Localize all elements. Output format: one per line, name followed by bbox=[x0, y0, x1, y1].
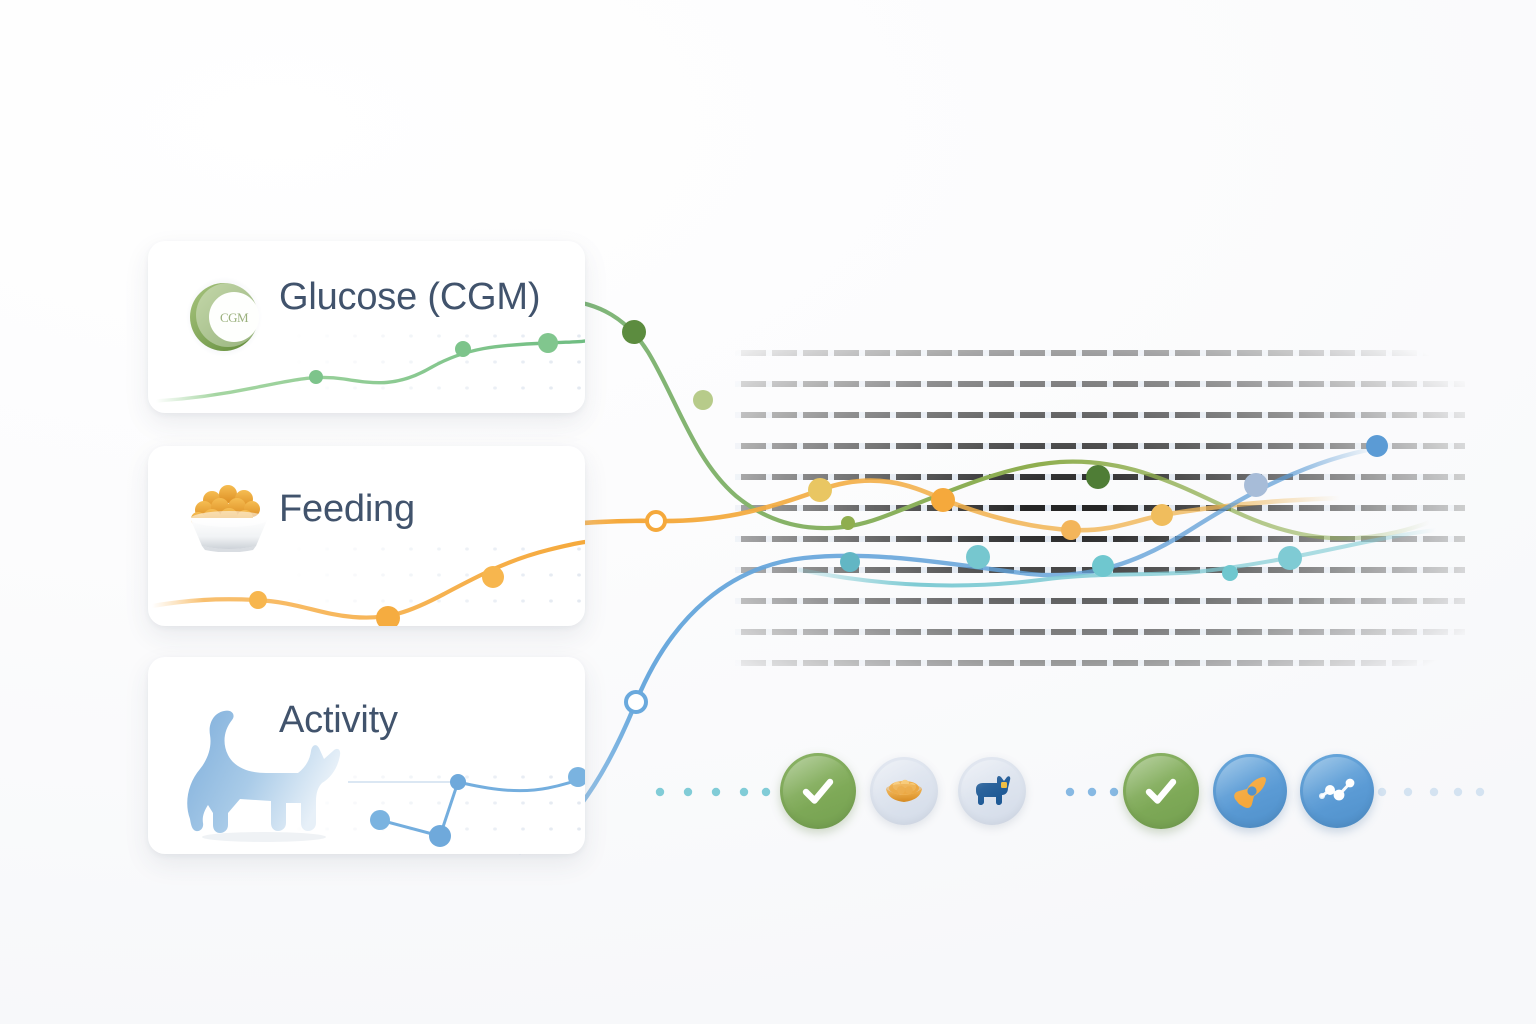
badge-connector-line bbox=[640, 760, 1520, 840]
flow-node[interactable] bbox=[626, 692, 646, 712]
rocket-icon bbox=[1227, 768, 1273, 814]
connector-dot bbox=[684, 788, 692, 796]
flow-node[interactable] bbox=[1151, 504, 1173, 526]
connector-dot bbox=[712, 788, 720, 796]
flow-node[interactable] bbox=[622, 320, 646, 344]
flow-line-1 bbox=[520, 481, 1340, 531]
flow-node[interactable] bbox=[1061, 520, 1081, 540]
dog-silhouette-icon bbox=[970, 771, 1014, 811]
feeding-sparkline bbox=[148, 516, 585, 626]
card-title-activity: Activity bbox=[279, 699, 398, 742]
flow-node[interactable] bbox=[1086, 465, 1110, 489]
flow-node[interactable] bbox=[808, 478, 832, 502]
check-circle-icon bbox=[795, 768, 841, 814]
flow-line-0 bbox=[560, 300, 1430, 538]
activity-sparkline bbox=[148, 744, 585, 854]
flow-node[interactable] bbox=[1244, 473, 1268, 497]
badge-trend-1[interactable] bbox=[1300, 754, 1374, 828]
flow-node[interactable] bbox=[840, 552, 860, 572]
connector-dot bbox=[1404, 788, 1412, 796]
flow-node[interactable] bbox=[1222, 565, 1238, 581]
connector-dot bbox=[1110, 788, 1118, 796]
flow-node[interactable] bbox=[1092, 555, 1114, 577]
metric-card-glucose[interactable]: CGM Glucose (CGM) bbox=[148, 241, 585, 413]
connector-dot bbox=[762, 788, 770, 796]
badge-check-2[interactable] bbox=[1123, 753, 1199, 829]
flow-node[interactable] bbox=[966, 545, 990, 569]
metric-card-feeding[interactable]: Feeding bbox=[148, 446, 585, 626]
badge-check-1[interactable] bbox=[780, 753, 856, 829]
flow-node[interactable] bbox=[1366, 435, 1388, 457]
connector-dot bbox=[656, 788, 664, 796]
connector-dot bbox=[1066, 788, 1074, 796]
flow-node[interactable] bbox=[647, 512, 665, 530]
badge-pet-1[interactable] bbox=[958, 757, 1026, 825]
flow-node[interactable] bbox=[693, 390, 713, 410]
trend-chart-icon bbox=[1314, 768, 1360, 814]
check-circle-icon bbox=[1138, 768, 1184, 814]
metric-card-activity[interactable]: Activity bbox=[148, 657, 585, 854]
food-bowl-icon bbox=[882, 771, 926, 811]
connector-dot bbox=[1378, 788, 1386, 796]
flow-node[interactable] bbox=[931, 488, 955, 512]
connector-dot bbox=[1476, 788, 1484, 796]
connector-dot bbox=[1430, 788, 1438, 796]
flow-node[interactable] bbox=[1278, 546, 1302, 570]
connector-dot bbox=[1088, 788, 1096, 796]
connector-dot bbox=[1454, 788, 1462, 796]
flow-node[interactable] bbox=[841, 516, 855, 530]
badge-rocket-1[interactable] bbox=[1213, 754, 1287, 828]
glucose-sparkline bbox=[148, 303, 585, 413]
connector-dot bbox=[740, 788, 748, 796]
app-canvas: CGM Glucose (CGM) bbox=[0, 0, 1536, 1024]
badge-food-1[interactable] bbox=[870, 757, 938, 825]
